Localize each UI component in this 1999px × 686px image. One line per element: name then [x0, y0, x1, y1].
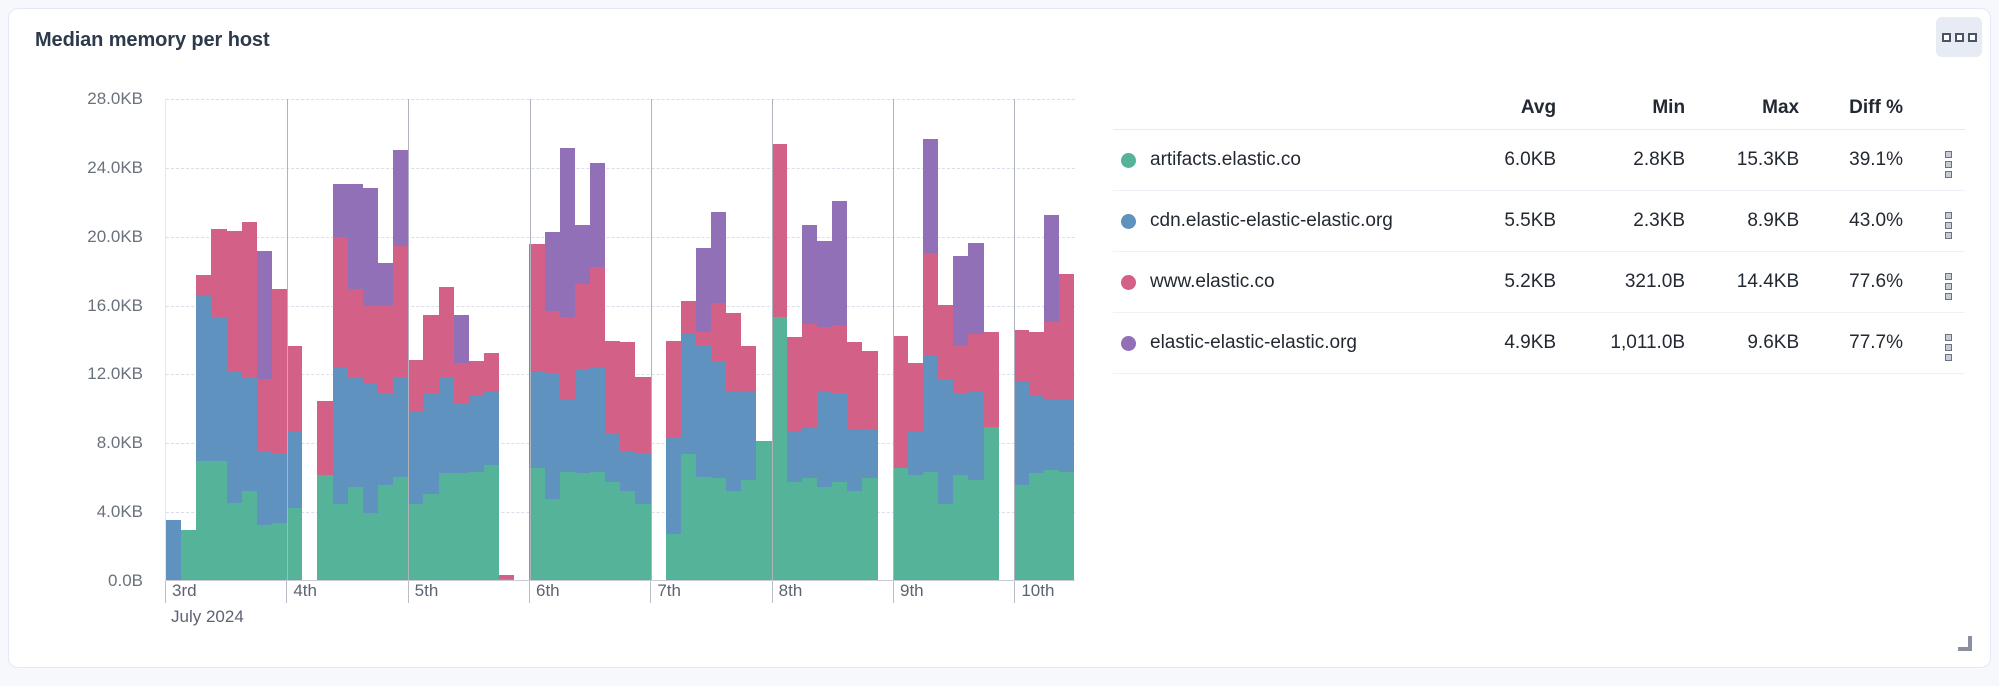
- bar-segment: [242, 377, 257, 491]
- bar-segment: [817, 392, 832, 487]
- day-separator: [772, 99, 773, 580]
- chart-bar[interactable]: [575, 99, 590, 580]
- page-title: Median memory per host: [35, 29, 270, 52]
- chart-bar[interactable]: [242, 99, 257, 580]
- bar-segment: [393, 377, 408, 477]
- bar-segment: [923, 472, 938, 580]
- chart-bar[interactable]: [908, 99, 923, 580]
- bar-segment: [726, 491, 741, 581]
- bar-segment: [893, 468, 908, 580]
- legend-cell-max: 14.4KB: [1701, 252, 1815, 313]
- chart-bar[interactable]: [317, 99, 332, 580]
- legend-series-cell[interactable]: www.elastic.co: [1113, 252, 1471, 313]
- y-axis-tick-label: 16.0KB: [87, 296, 143, 316]
- x-axis-tick-label: 10th: [1014, 581, 1054, 603]
- bar-segment: [1014, 330, 1029, 382]
- bar-segment: [439, 377, 454, 473]
- bar-segment: [211, 461, 226, 580]
- bar-segment: [938, 380, 953, 504]
- bar-segment: [635, 377, 650, 453]
- chart-bar[interactable]: [681, 99, 696, 580]
- bar-segment: [423, 394, 438, 494]
- bar-segment: [469, 396, 484, 472]
- bar-segment: [847, 430, 862, 490]
- legend-cell-min: 2.8KB: [1572, 130, 1701, 191]
- legend-series-cell[interactable]: elastic-elastic-elastic.org: [1113, 313, 1471, 374]
- bar-segment: [242, 222, 257, 377]
- bar-segment: [1029, 332, 1044, 396]
- legend-header-max[interactable]: Max: [1701, 93, 1815, 130]
- bar-segment: [832, 201, 847, 325]
- bar-segment: [348, 184, 363, 289]
- legend-cell-diff: 77.7%: [1815, 313, 1919, 374]
- bar-segment: [166, 520, 181, 580]
- legend-series-label: elastic-elastic-elastic.org: [1150, 332, 1357, 354]
- legend-cell-min: 2.3KB: [1572, 191, 1701, 252]
- chart-bar[interactable]: [484, 99, 499, 580]
- bar-segment: [1059, 399, 1074, 471]
- chart-bar[interactable]: [938, 99, 953, 580]
- bar-segment: [378, 485, 393, 580]
- chart-bar[interactable]: [802, 99, 817, 580]
- bar-segment: [605, 434, 620, 482]
- chart-bar[interactable]: [726, 99, 741, 580]
- drag-handle-icon[interactable]: [1945, 273, 1952, 300]
- chart-bar[interactable]: [1059, 99, 1074, 580]
- chart-bar[interactable]: [545, 99, 560, 580]
- bar-segment: [802, 478, 817, 580]
- panel-context-menu-button[interactable]: [1936, 17, 1982, 57]
- legend-color-dot-icon: [1121, 214, 1136, 229]
- bar-segment: [529, 468, 544, 580]
- bar-segment: [545, 373, 560, 499]
- bar-segment: [196, 296, 211, 461]
- bar-segment: [620, 451, 635, 491]
- legend-header-series: [1113, 93, 1471, 130]
- bar-segment: [348, 289, 363, 377]
- bar-segment: [1029, 396, 1044, 473]
- bar-segment: [666, 341, 681, 437]
- bar-segment: [560, 317, 575, 400]
- bar-segment: [817, 487, 832, 580]
- bar-segment: [439, 287, 454, 377]
- bar-segment: [378, 306, 393, 394]
- bar-segment: [454, 473, 469, 580]
- bar-segment: [423, 494, 438, 580]
- bar-segment: [681, 334, 696, 455]
- bar-segment: [802, 427, 817, 479]
- chart-bar[interactable]: [620, 99, 635, 580]
- chart-bar[interactable]: [166, 99, 181, 580]
- bar-segment: [726, 313, 741, 390]
- bar-segment: [227, 231, 242, 372]
- bar-segment: [605, 482, 620, 580]
- grid-square-icon: [1955, 33, 1964, 42]
- chart-bar[interactable]: [696, 99, 711, 580]
- x-axis-tick-label: 5th: [408, 581, 439, 603]
- grid-square-icon: [1968, 33, 1977, 42]
- bar-segment: [227, 372, 242, 503]
- legend-cell-diff: 43.0%: [1815, 191, 1919, 252]
- chart-bar[interactable]: [454, 99, 469, 580]
- bar-segment: [1059, 472, 1074, 580]
- bar-segment: [968, 334, 983, 393]
- bar-segment: [711, 478, 726, 580]
- bar-segment: [938, 305, 953, 381]
- bar-segment: [968, 392, 983, 480]
- bar-segment: [590, 367, 605, 472]
- bar-segment: [1059, 274, 1074, 400]
- bar-segment: [832, 325, 847, 394]
- chart-bar[interactable]: [529, 99, 544, 580]
- legend-series-cell[interactable]: cdn.elastic-elastic-elastic.org: [1113, 191, 1471, 252]
- bar-segment: [711, 361, 726, 478]
- panel-resize-handle[interactable]: [1956, 637, 1972, 653]
- legend-cell-avg: 5.2KB: [1471, 252, 1572, 313]
- legend-series-cell[interactable]: artifacts.elastic.co: [1113, 130, 1471, 191]
- grid-square-icon: [1942, 33, 1951, 42]
- bar-segment: [862, 478, 877, 580]
- chart-bar[interactable]: [817, 99, 832, 580]
- bar-segment: [968, 480, 983, 580]
- legend-header-min[interactable]: Min: [1572, 93, 1701, 130]
- x-axis-tick-label: 9th: [893, 581, 924, 603]
- bar-segment: [317, 475, 332, 580]
- legend-cell-avg: 4.9KB: [1471, 313, 1572, 374]
- bar-segment: [317, 401, 332, 475]
- y-axis-tick-label: 20.0KB: [87, 227, 143, 247]
- bar-segment: [454, 403, 469, 474]
- bar-segment: [817, 241, 832, 327]
- bar-segment: [393, 477, 408, 580]
- chart-bar[interactable]: [787, 99, 802, 580]
- chart-bar[interactable]: [302, 99, 317, 580]
- legend-header-avg[interactable]: Avg: [1471, 93, 1572, 130]
- chart-bar[interactable]: [211, 99, 226, 580]
- bar-segment: [984, 427, 999, 580]
- bar-segment: [590, 163, 605, 266]
- chart-bar[interactable]: [756, 99, 771, 580]
- bar-series-group: [166, 99, 1075, 580]
- bar-segment: [408, 504, 423, 580]
- bar-segment: [1044, 399, 1059, 470]
- bar-segment: [681, 454, 696, 580]
- bar-segment: [802, 225, 817, 323]
- chart-bar[interactable]: [393, 99, 408, 580]
- bar-segment: [711, 303, 726, 362]
- bar-segment: [635, 504, 650, 580]
- bar-segment: [378, 263, 393, 306]
- legend-series-label: www.elastic.co: [1150, 271, 1275, 293]
- bar-segment: [1014, 485, 1029, 580]
- bar-segment: [590, 472, 605, 580]
- bar-segment: [333, 184, 348, 237]
- day-separator: [287, 99, 288, 580]
- bar-segment: [1029, 473, 1044, 580]
- chart-bar[interactable]: [348, 99, 363, 580]
- bar-segment: [439, 473, 454, 580]
- bar-segment: [484, 465, 499, 580]
- drag-handle-icon[interactable]: [1945, 212, 1952, 239]
- day-separator: [408, 99, 409, 580]
- day-separator: [651, 99, 652, 580]
- legend-row-drag-cell[interactable]: [1919, 313, 1965, 374]
- legend-row-drag-cell[interactable]: [1919, 130, 1965, 191]
- bar-segment: [620, 491, 635, 581]
- bar-segment: [726, 391, 741, 491]
- bar-segment: [575, 284, 590, 370]
- bar-segment: [666, 437, 681, 533]
- bar-segment: [211, 317, 226, 462]
- legend-cell-avg: 6.0KB: [1471, 130, 1572, 191]
- bar-segment: [787, 337, 802, 432]
- x-axis-tick-label: 6th: [529, 581, 560, 603]
- chart-bar[interactable]: [651, 99, 666, 580]
- bar-segment: [196, 275, 211, 296]
- day-separator: [1014, 99, 1015, 580]
- x-axis-period-label: July 2024: [165, 607, 244, 627]
- chart-bar[interactable]: [1029, 99, 1044, 580]
- chart-bar[interactable]: [1044, 99, 1059, 580]
- chart-bar[interactable]: [741, 99, 756, 580]
- y-axis-tick-label: 28.0KB: [87, 89, 143, 109]
- x-axis: 3rdJuly 20244th5th6th7th8th9th10th: [165, 581, 1075, 641]
- x-axis-tick-label: 8th: [772, 581, 803, 603]
- bar-segment: [423, 315, 438, 394]
- bar-segment: [787, 432, 802, 482]
- chart-bar[interactable]: [711, 99, 726, 580]
- legend-cell-diff: 77.6%: [1815, 252, 1919, 313]
- legend-series-label: artifacts.elastic.co: [1150, 149, 1301, 171]
- chart-area: 0.0B4.0KB8.0KB12.0KB16.0KB20.0KB24.0KB28…: [35, 81, 1075, 641]
- drag-handle-icon[interactable]: [1945, 151, 1952, 178]
- bar-segment: [832, 482, 847, 580]
- chart-bar[interactable]: [590, 99, 605, 580]
- chart-bar[interactable]: [499, 99, 514, 580]
- chart-bar[interactable]: [181, 99, 196, 580]
- legend-cell-max: 15.3KB: [1701, 130, 1815, 191]
- drag-handle-icon[interactable]: [1945, 334, 1952, 361]
- bar-segment: [893, 336, 908, 469]
- bar-segment: [242, 491, 257, 581]
- legend-row-drag-cell[interactable]: [1919, 191, 1965, 252]
- chart-bar[interactable]: [469, 99, 484, 580]
- chart-bar[interactable]: [605, 99, 620, 580]
- bar-segment: [575, 225, 590, 284]
- bar-segment: [772, 144, 787, 316]
- bar-segment: [469, 472, 484, 580]
- chart-bar[interactable]: [878, 99, 893, 580]
- chart-bar[interactable]: [439, 99, 454, 580]
- chart-bar[interactable]: [378, 99, 393, 580]
- bar-segment: [363, 513, 378, 580]
- bar-segment: [953, 394, 968, 475]
- bar-segment: [484, 353, 499, 391]
- bar-segment: [605, 341, 620, 434]
- y-axis-tick-label: 24.0KB: [87, 158, 143, 178]
- bar-segment: [938, 504, 953, 580]
- bar-segment: [484, 391, 499, 465]
- bar-segment: [378, 394, 393, 485]
- bar-segment: [257, 251, 272, 378]
- bar-segment: [499, 579, 514, 580]
- chart-bar[interactable]: [196, 99, 211, 580]
- bar-segment: [696, 248, 711, 332]
- chart-bar[interactable]: [272, 99, 287, 580]
- chart-bar[interactable]: [999, 99, 1014, 580]
- bar-segment: [348, 377, 363, 487]
- legend-row[interactable]: cdn.elastic-elastic-elastic.org5.5KB2.3K…: [1113, 191, 1965, 252]
- bar-segment: [272, 289, 287, 453]
- bar-segment: [469, 361, 484, 395]
- chart-bar[interactable]: [666, 99, 681, 580]
- legend-header-handle: [1919, 93, 1965, 130]
- chart-bar[interactable]: [832, 99, 847, 580]
- bar-segment: [211, 229, 226, 317]
- legend-row[interactable]: www.elastic.co5.2KB321.0B14.4KB77.6%: [1113, 252, 1965, 313]
- bar-segment: [908, 432, 923, 475]
- bar-segment: [227, 503, 242, 580]
- dashboard-panel: Median memory per host 0.0B4.0KB8.0KB12.…: [8, 8, 1991, 668]
- bar-segment: [620, 342, 635, 450]
- chart-bar[interactable]: [953, 99, 968, 580]
- bar-segment: [590, 267, 605, 367]
- bar-segment: [333, 237, 348, 366]
- y-axis-tick-label: 0.0B: [108, 571, 143, 591]
- bar-segment: [968, 243, 983, 334]
- bar-segment: [257, 525, 272, 580]
- bar-segment: [635, 453, 650, 505]
- bar-segment: [575, 473, 590, 580]
- chart-bar[interactable]: [1014, 99, 1029, 580]
- chart-bar[interactable]: [560, 99, 575, 580]
- bar-segment: [953, 256, 968, 346]
- y-axis-tick-label: 8.0KB: [97, 433, 143, 453]
- bar-segment: [696, 332, 711, 346]
- bar-segment: [741, 392, 756, 480]
- bar-segment: [953, 346, 968, 394]
- chart-bar[interactable]: [772, 99, 787, 580]
- bar-segment: [696, 346, 711, 477]
- bar-segment: [575, 370, 590, 473]
- bar-segment: [923, 139, 938, 253]
- legend-table: Avg Min Max Diff % artifacts.elastic.co6…: [1113, 93, 1965, 374]
- bar-segment: [287, 346, 302, 432]
- chart-bar[interactable]: [287, 99, 302, 580]
- chart-bar[interactable]: [893, 99, 908, 580]
- bar-segment: [908, 363, 923, 432]
- bar-segment: [741, 346, 756, 392]
- bar-segment: [711, 212, 726, 303]
- bar-segment: [696, 477, 711, 580]
- bar-segment: [666, 534, 681, 580]
- bar-segment: [560, 148, 575, 317]
- bar-segment: [287, 508, 302, 580]
- bar-segment: [363, 384, 378, 513]
- bar-segment: [756, 441, 771, 580]
- bar-segment: [454, 363, 469, 403]
- bar-segment: [257, 451, 272, 525]
- bar-segment: [363, 306, 378, 383]
- bar-segment: [817, 327, 832, 392]
- chart-bar[interactable]: [227, 99, 242, 580]
- chart-bar[interactable]: [514, 99, 529, 580]
- chart-bar[interactable]: [333, 99, 348, 580]
- plot-area[interactable]: [165, 99, 1075, 581]
- bar-segment: [1014, 382, 1029, 485]
- chart-bar[interactable]: [423, 99, 438, 580]
- legend-series-label: cdn.elastic-elastic-elastic.org: [1150, 210, 1393, 232]
- bar-segment: [333, 504, 348, 580]
- legend-row-drag-cell[interactable]: [1919, 252, 1965, 313]
- bar-segment: [832, 394, 847, 482]
- bar-segment: [1044, 322, 1059, 399]
- legend-row[interactable]: elastic-elastic-elastic.org4.9KB1,011.0B…: [1113, 313, 1965, 374]
- x-axis-tick-label: 3rd: [165, 581, 197, 603]
- bar-segment: [529, 244, 544, 371]
- x-axis-tick-label: 7th: [650, 581, 681, 603]
- bar-segment: [772, 317, 787, 580]
- bar-segment: [802, 324, 817, 427]
- bar-segment: [333, 367, 348, 505]
- legend-cell-min: 321.0B: [1572, 252, 1701, 313]
- bar-segment: [181, 530, 196, 580]
- bar-segment: [287, 432, 302, 508]
- legend-color-dot-icon: [1121, 336, 1136, 351]
- chart-bar[interactable]: [363, 99, 378, 580]
- chart-bar[interactable]: [847, 99, 862, 580]
- chart-bar[interactable]: [408, 99, 423, 580]
- bar-segment: [545, 499, 560, 580]
- bar-segment: [681, 301, 696, 334]
- day-separator: [530, 99, 531, 580]
- chart-bar[interactable]: [923, 99, 938, 580]
- day-separator: [893, 99, 894, 580]
- legend-color-dot-icon: [1121, 275, 1136, 290]
- legend-cell-min: 1,011.0B: [1572, 313, 1701, 374]
- bar-segment: [787, 482, 802, 580]
- screen-root: { "panel": { "title": "Median memory per…: [0, 0, 1999, 686]
- chart-bar[interactable]: [635, 99, 650, 580]
- bar-segment: [847, 491, 862, 581]
- legend-row[interactable]: artifacts.elastic.co6.0KB2.8KB15.3KB39.1…: [1113, 130, 1965, 191]
- bar-segment: [348, 487, 363, 580]
- bar-segment: [908, 475, 923, 580]
- chart-bar[interactable]: [984, 99, 999, 580]
- chart-bar[interactable]: [862, 99, 877, 580]
- bar-segment: [923, 355, 938, 472]
- bar-segment: [847, 342, 862, 430]
- bar-segment: [560, 399, 575, 471]
- legend-header-diff[interactable]: Diff %: [1815, 93, 1919, 130]
- chart-bar[interactable]: [257, 99, 272, 580]
- y-axis-tick-label: 4.0KB: [97, 502, 143, 522]
- bar-segment: [953, 475, 968, 580]
- bar-segment: [741, 480, 756, 580]
- bar-segment: [393, 246, 408, 377]
- bar-segment: [984, 332, 999, 427]
- legend-cell-avg: 5.5KB: [1471, 191, 1572, 252]
- y-axis-tick-label: 12.0KB: [87, 364, 143, 384]
- bar-segment: [272, 453, 287, 524]
- legend-header-row: Avg Min Max Diff %: [1113, 93, 1965, 130]
- bar-segment: [408, 411, 423, 504]
- chart-bar[interactable]: [968, 99, 983, 580]
- bar-segment: [272, 523, 287, 580]
- bar-segment: [408, 360, 423, 412]
- bar-segment: [560, 472, 575, 580]
- bar-segment: [923, 253, 938, 355]
